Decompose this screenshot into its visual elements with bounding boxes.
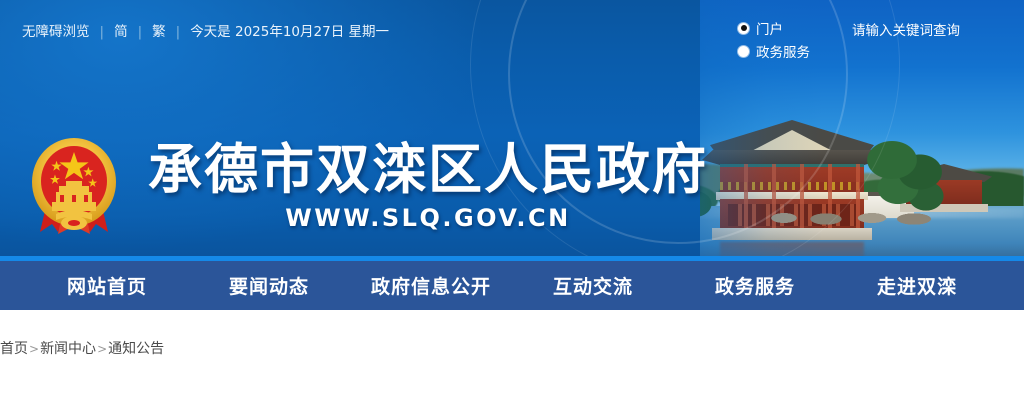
radio-option-portal[interactable]: 门户 bbox=[738, 18, 810, 38]
nav-item-about-shuangluan[interactable]: 走进双滦 bbox=[836, 272, 998, 299]
search-box[interactable] bbox=[852, 20, 1012, 42]
radio-option-government-service[interactable]: 政务服务 bbox=[738, 41, 810, 61]
accessibility-link[interactable]: 无障碍浏览 bbox=[22, 22, 90, 42]
top-utility-bar: 无障碍浏览 | 简 | 繁 | 今天是 2025年10月27日 星期一 门户 政… bbox=[0, 0, 1024, 62]
simplified-chinese-link[interactable]: 简 bbox=[114, 22, 128, 42]
content-area: 首页>新闻中心>通知公告 bbox=[0, 310, 1024, 400]
traditional-chinese-link[interactable]: 繁 bbox=[152, 22, 166, 42]
nav-item-gov-services[interactable]: 政务服务 bbox=[674, 272, 836, 299]
site-title: 承德市双滦区人民政府 bbox=[148, 138, 708, 202]
current-date-text: 今天是 2025年10月27日 星期一 bbox=[190, 22, 389, 42]
separator-3: | bbox=[176, 22, 181, 42]
site-url: WWW.SLQ.GOV.CN bbox=[148, 204, 708, 232]
breadcrumb-item-announcements[interactable]: 通知公告 bbox=[108, 341, 164, 357]
search-scope-radio-group[interactable]: 门户 政务服务 bbox=[738, 18, 810, 61]
search-input[interactable] bbox=[852, 23, 1012, 39]
national-emblem-icon bbox=[18, 128, 130, 240]
nav-item-interaction[interactable]: 互动交流 bbox=[512, 272, 674, 299]
radio-unselected-icon[interactable] bbox=[738, 46, 749, 57]
nav-item-news[interactable]: 要闻动态 bbox=[188, 272, 350, 299]
radio-label-portal: 门户 bbox=[756, 18, 783, 38]
breadcrumb-item-news-center[interactable]: 新闻中心 bbox=[40, 341, 96, 357]
topbar-links: 无障碍浏览 | 简 | 繁 | 今天是 2025年10月27日 星期一 bbox=[22, 22, 442, 42]
separator-2: | bbox=[138, 22, 143, 42]
breadcrumb-item-home[interactable]: 首页 bbox=[0, 341, 28, 357]
breadcrumb-separator-1: > bbox=[29, 342, 39, 356]
main-navigation: 网站首页 要闻动态 政府信息公开 互动交流 政务服务 走进双滦 bbox=[0, 261, 1024, 310]
site-title-block: 承德市双滦区人民政府 WWW.SLQ.GOV.CN bbox=[148, 138, 708, 232]
radio-label-government-service: 政务服务 bbox=[756, 41, 810, 61]
breadcrumb-separator-2: > bbox=[97, 342, 107, 356]
nav-item-info-disclosure[interactable]: 政府信息公开 bbox=[350, 272, 512, 299]
radio-selected-icon[interactable] bbox=[738, 23, 749, 34]
breadcrumb: 首页>新闻中心>通知公告 bbox=[0, 338, 164, 358]
separator-1: | bbox=[100, 22, 105, 42]
nav-item-home[interactable]: 网站首页 bbox=[26, 272, 188, 299]
